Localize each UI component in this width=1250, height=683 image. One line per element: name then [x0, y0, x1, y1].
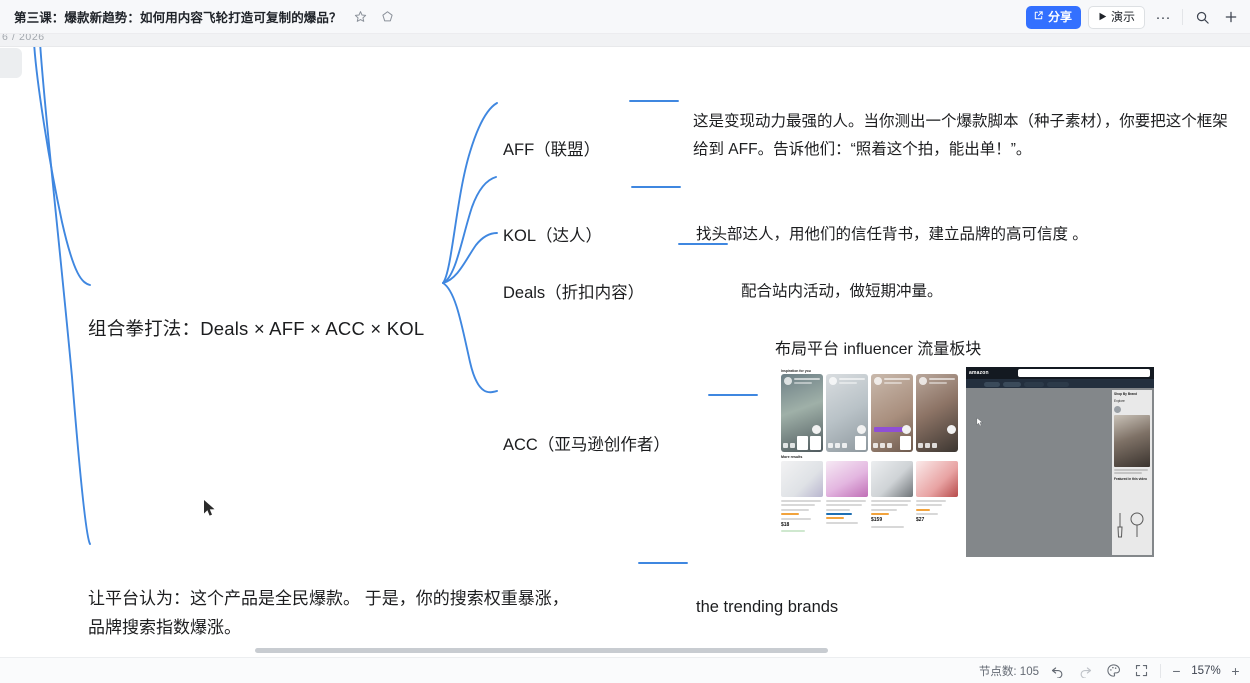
card-badge-icon [902, 425, 911, 434]
product-image [871, 461, 913, 497]
node-count-label: 节点数: 105 [979, 663, 1039, 679]
utensil-icons [1110, 509, 1150, 541]
card-sub-line [794, 382, 812, 384]
status-bar: 节点数: 105 − 157% [0, 657, 1250, 683]
share-button[interactable]: 分享 [1026, 6, 1081, 29]
product-price: $159 [871, 517, 913, 523]
undo-icon[interactable] [1048, 661, 1067, 680]
card-action-icons [873, 443, 892, 448]
card-title-line [839, 378, 865, 380]
card-action-icons [828, 443, 847, 448]
explore-label: Explore [1112, 397, 1152, 404]
zoom-in-button[interactable]: + [1229, 663, 1242, 679]
product-cell[interactable]: $159 [871, 461, 913, 532]
amazon-header-bar: amazon [966, 367, 1154, 379]
coupon-badge [781, 530, 805, 532]
amazon-shop-by-brand-screenshot[interactable]: amazon Shop By Brand Explore Featured in… [966, 367, 1154, 557]
avatar [919, 377, 927, 385]
fit-screen-icon[interactable] [1132, 661, 1151, 680]
featured-products[interactable] [1110, 509, 1150, 541]
card-sub-line [929, 382, 947, 384]
rating-stars [826, 517, 844, 519]
node-root[interactable]: 组合拳打法：Deals × AFF × ACC × KOL [88, 315, 424, 341]
inspire-card[interactable] [781, 374, 823, 452]
star-icon[interactable] [352, 8, 369, 25]
nav-pill[interactable] [1047, 382, 1069, 387]
shop-by-brand-panel[interactable]: Shop By Brand Explore Featured in this v… [1112, 390, 1152, 555]
card-product-thumbs [797, 436, 821, 450]
horizontal-scrollbar-thumb[interactable] [255, 648, 828, 653]
play-icon [1098, 10, 1107, 24]
inspire-section-title: Inspiration for you [778, 367, 962, 374]
shop-by-brand-title: Shop By Brand [1112, 390, 1152, 397]
rating-stars [871, 513, 889, 515]
loading-cursor-icon [974, 417, 987, 428]
mindmap-app-window: 第三课：爆款新趋势：如何用内容飞轮打造可复制的爆品？ 分享 [0, 0, 1250, 683]
card-action-icons [918, 443, 937, 448]
video-thumbnail[interactable] [1114, 415, 1150, 467]
inspire-card[interactable] [916, 374, 958, 452]
left-collapsed-panel-chip[interactable] [0, 48, 22, 78]
rating-stars [781, 513, 799, 515]
product-image [826, 461, 868, 497]
present-button[interactable]: 演示 [1088, 6, 1145, 29]
node-kol-description[interactable]: 找头部达人，用他们的信任背书，建立品牌的高可信度 。 [696, 222, 1088, 244]
card-badge-icon [812, 425, 821, 434]
node-aff-label[interactable]: AFF（联盟） [503, 136, 600, 160]
card-badge-icon [947, 425, 956, 434]
nav-pill[interactable] [1024, 382, 1044, 387]
document-title[interactable]: 第三课：爆款新趋势：如何用内容飞轮打造可复制的爆品？ [14, 7, 342, 26]
avatar [829, 377, 837, 385]
inspire-card-row [778, 374, 962, 452]
node-deals-label[interactable]: Deals（折扣内容） [503, 279, 644, 303]
option-link [826, 513, 852, 515]
card-sub-line [884, 382, 902, 384]
toolbar-divider [1182, 9, 1183, 25]
share-external-icon [1033, 10, 1044, 25]
redo-icon[interactable] [1076, 661, 1095, 680]
card-title-line [794, 378, 820, 380]
zoom-out-button[interactable]: − [1170, 663, 1183, 679]
node-kol-label[interactable]: KOL（达人） [503, 222, 602, 246]
toolbar-actions: 分享 演示 ··· [1026, 0, 1242, 34]
more-results-title: More results [778, 452, 962, 461]
inspire-card[interactable] [871, 374, 913, 452]
avatar [784, 377, 792, 385]
product-cell[interactable]: $27 [916, 461, 958, 532]
node-deals-description[interactable]: 配合站内活动，做短期冲量。 [741, 279, 943, 301]
product-cell[interactable]: $18 [781, 461, 823, 532]
node-aff-description[interactable]: 这是变现动力最强的人。当你测出一个爆款脚本（种子素材），你要把这个框架给到 AF… [693, 108, 1241, 164]
palette-icon[interactable] [1104, 661, 1123, 680]
card-badge-icon [857, 425, 866, 434]
status-divider [1160, 664, 1161, 678]
node-acc-label[interactable]: ACC（亚马逊创作者） [503, 431, 670, 455]
product-price: $18 [781, 522, 823, 528]
node-bottom-statement[interactable]: 让平台认为：这个产品是全民爆款。 于是，你的搜索权重暴涨， 品牌搜索指数爆涨。 [88, 584, 618, 642]
product-price: $27 [916, 517, 958, 523]
mouse-cursor [203, 499, 216, 517]
amazon-search-input[interactable] [1018, 369, 1150, 377]
nav-pill[interactable] [984, 382, 1000, 387]
title-bar: 第三课：爆款新趋势：如何用内容飞轮打造可复制的爆品？ 分享 [0, 0, 1250, 34]
node-trending-brands[interactable]: the trending brands [696, 598, 838, 617]
card-title-line [884, 378, 910, 380]
amazon-logo: amazon [969, 370, 989, 376]
node-board-title[interactable]: 布局平台 influencer 流量板块 [775, 335, 981, 359]
present-button-label: 演示 [1111, 10, 1135, 24]
mindmap-canvas[interactable]: 组合拳打法：Deals × AFF × ACC × KOL AFF（联盟） 这是… [0, 47, 1250, 657]
zoom-level-label[interactable]: 157% [1189, 665, 1223, 677]
product-image [781, 461, 823, 497]
pentagon-icon[interactable] [379, 8, 396, 25]
card-product-thumbs [900, 436, 911, 450]
card-sub-line [839, 382, 857, 384]
inspire-card[interactable] [826, 374, 868, 452]
secondary-strip: 6 / 2026 [0, 34, 1250, 47]
amazon-inspire-feed-screenshot[interactable]: Inspiration for you [778, 367, 962, 557]
rating-stars [916, 509, 930, 511]
search-icon[interactable] [1191, 6, 1213, 28]
product-image [916, 461, 958, 497]
nav-pill[interactable] [1003, 382, 1021, 387]
share-button-label: 分享 [1048, 10, 1072, 25]
plus-icon[interactable] [1220, 6, 1242, 28]
card-product-thumbs [855, 436, 866, 450]
creator-avatar [1114, 406, 1121, 413]
zoom-controls: − 157% + [1170, 663, 1242, 679]
card-title-line [929, 378, 955, 380]
avatar [874, 377, 882, 385]
product-cell[interactable] [826, 461, 868, 532]
featured-label: Featured in this video [1112, 475, 1152, 482]
more-options-button[interactable]: ··· [1152, 6, 1174, 28]
product-grid-row: $18 $159 [778, 461, 962, 532]
